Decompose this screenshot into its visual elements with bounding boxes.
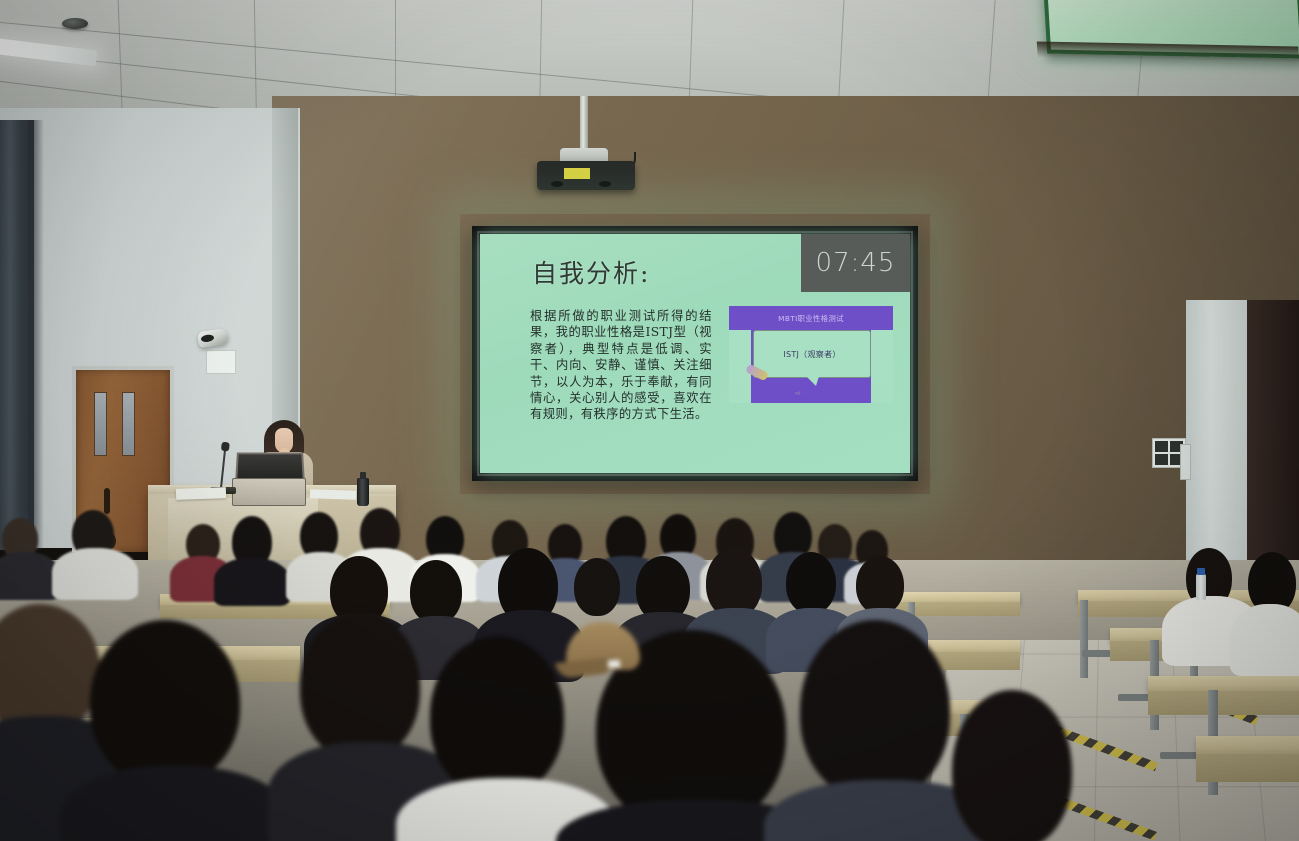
door-window-right (122, 392, 135, 456)
door-handle[interactable] (104, 488, 110, 514)
slide-content: 07:45 自我分析: 根据所做的职业测试所得的结果，我的职业性格是ISTJ型（… (480, 234, 910, 473)
projector-lens (551, 181, 563, 187)
audience-shoulders (1230, 604, 1299, 676)
ceiling-projector (537, 161, 635, 190)
lecture-hall-photo: 07:45 自我分析: 根据所做的职业测试所得的结果，我的职业性格是ISTJ型（… (0, 0, 1299, 841)
podium-papers (176, 487, 226, 500)
audience-head (856, 556, 904, 614)
timer-value: 07:45 (816, 248, 896, 278)
desk-row-front (1196, 754, 1299, 782)
projector-lens-secondary (599, 181, 611, 187)
slide-body-text: 根据所做的职业测试所得的结果，我的职业性格是ISTJ型（视察者），典型特点是低调… (530, 308, 712, 423)
mbti-bubble-text: ISTJ（观察者） (783, 349, 840, 360)
audience-head (800, 620, 950, 800)
desk-leg (1080, 600, 1088, 678)
wall-notice-sign (206, 350, 236, 374)
presenter-laptop (232, 478, 306, 506)
audience-head (430, 636, 564, 796)
audience-water-bottle (1196, 574, 1206, 600)
mbti-illustration: MBTI职业性格测试 ISTJ（观察者） ml. (729, 306, 893, 403)
smoke-detector-icon (62, 18, 88, 29)
audience-head (786, 552, 836, 614)
audience-head (300, 612, 420, 760)
window-curtain (0, 120, 34, 550)
door-window-left (94, 392, 107, 456)
audience-shoulders (52, 548, 138, 600)
cap-tag (608, 660, 620, 668)
mbti-caption: MBTI职业性格测试 (729, 314, 893, 324)
audience-head (574, 558, 620, 616)
desk-row (1196, 736, 1299, 756)
right-wall (1186, 300, 1248, 580)
mbti-speech-bubble: ISTJ（观察者） (753, 330, 871, 378)
projector-sticker (564, 168, 590, 179)
podium-bottle (357, 478, 369, 506)
mbti-signature: ml. (795, 391, 802, 397)
desk-row-front (1148, 691, 1299, 715)
projector-mount-pole (580, 96, 588, 154)
podium-papers-secondary (310, 489, 356, 500)
audience-head (90, 620, 240, 785)
bottle-cap (1197, 568, 1205, 575)
secondary-switch-plate[interactable] (1180, 444, 1191, 480)
mbti-shape-right (871, 330, 893, 403)
audience-shoulders (214, 558, 290, 606)
audience-head (952, 690, 1072, 841)
slide-timer: 07:45 (801, 234, 910, 292)
audience-shoulders (0, 552, 60, 600)
audience-head (410, 560, 462, 624)
projection-screen: 07:45 自我分析: 根据所做的职业测试所得的结果，我的职业性格是ISTJ型（… (472, 226, 918, 481)
slide-title: 自我分析: (532, 254, 650, 290)
